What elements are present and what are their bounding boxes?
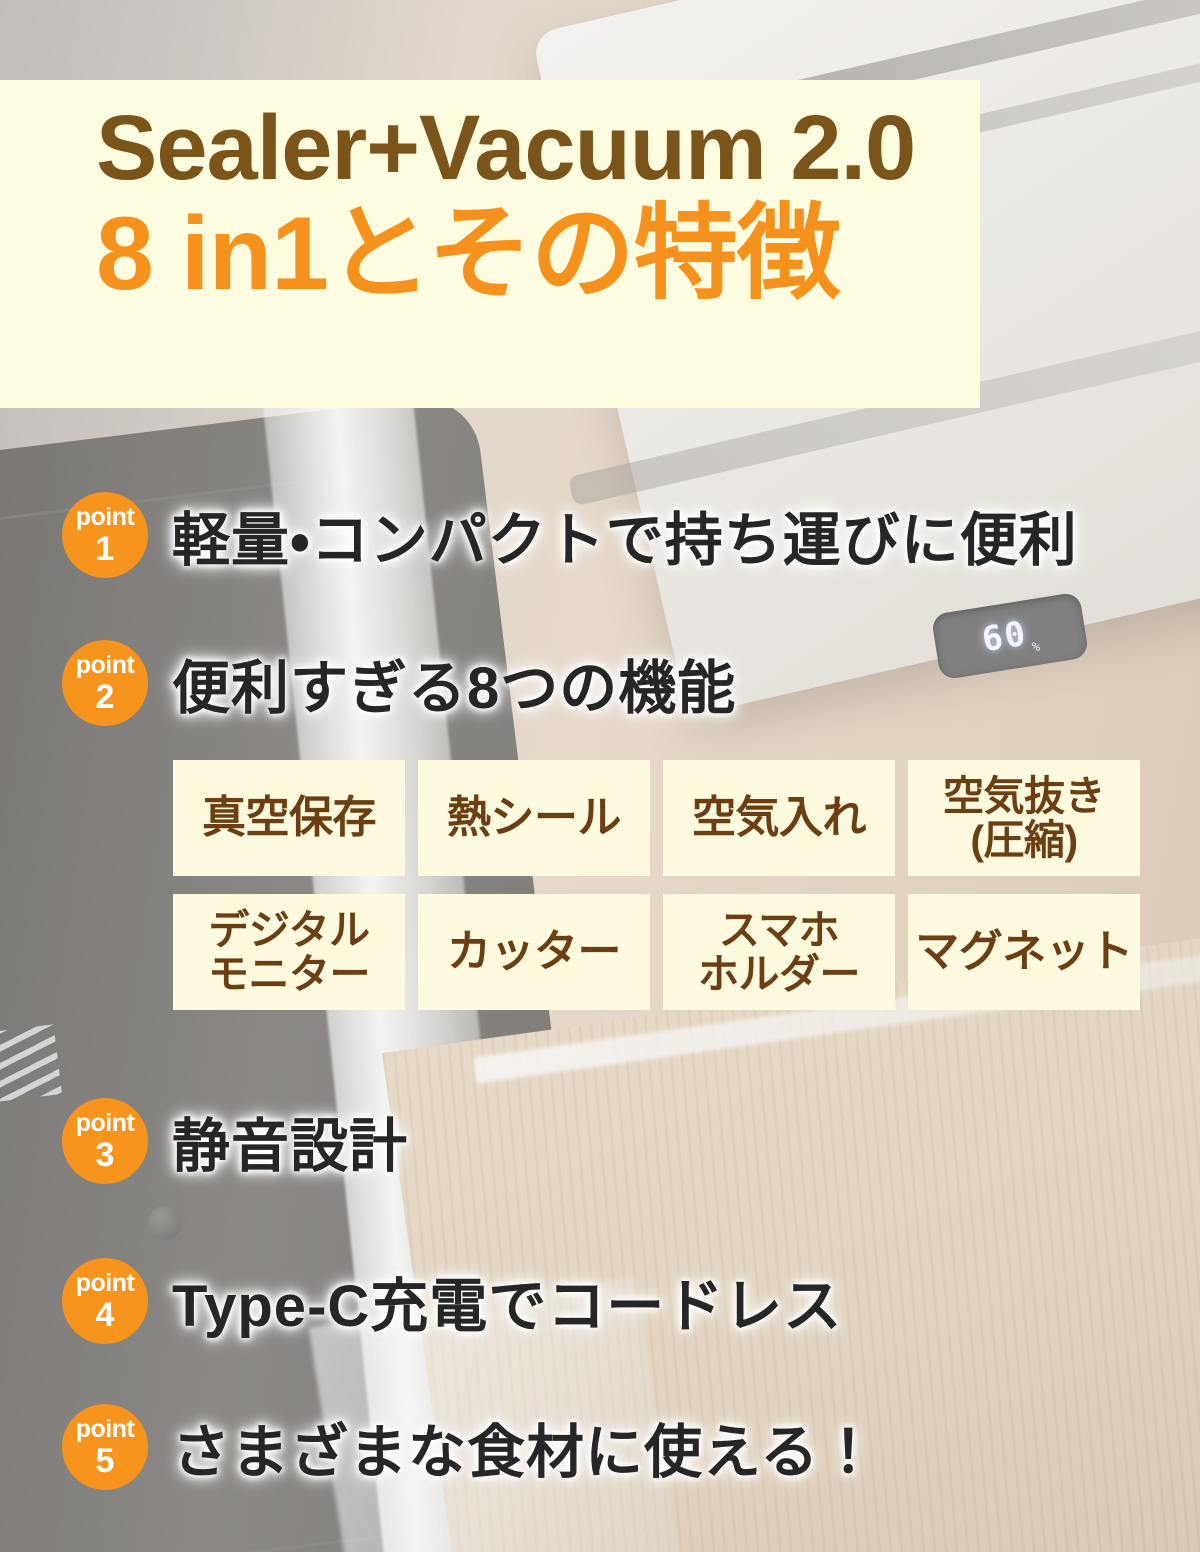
feature-tag-digital-monitor: デジタルモニター (173, 894, 405, 1010)
point-badge-number: 1 (96, 532, 115, 566)
point-row-3: point 3 静音設計 (62, 1098, 408, 1184)
point-row-4: point 4 Type-C充電でコードレス (62, 1258, 842, 1344)
point-badge-label: point (76, 1271, 135, 1296)
point-badge-3: point 3 (62, 1098, 148, 1184)
point-text-5: さまざまな食材に使える！ (172, 1405, 878, 1489)
feature-tag-magnet: マグネット (908, 894, 1140, 1010)
point-row-5: point 5 さまざまな食材に使える！ (62, 1404, 878, 1490)
feature-tag-heat-seal: 熱シール (418, 760, 650, 876)
feature-tag-phone-holder: スマホホルダー (663, 894, 895, 1010)
point-badge-number: 4 (96, 1298, 115, 1332)
title-product-name: Sealer+Vacuum 2.0 (96, 102, 980, 196)
title-card: Sealer+Vacuum 2.0 8 in1とその特徴 (0, 80, 980, 408)
point-text-4: Type-C充電でコードレス (172, 1259, 842, 1343)
point-row-2: point 2 便利すぎる8つの機能 (62, 640, 736, 726)
point-badge-label: point (76, 1111, 135, 1136)
feature-tag-air-release: 空気抜き(圧縮) (908, 760, 1140, 876)
point-badge-label: point (76, 505, 135, 530)
point-badge-2: point 2 (62, 640, 148, 726)
feature-tag-grid: 真空保存 熱シール 空気入れ 空気抜き(圧縮) デジタルモニター カッター スマ… (173, 760, 1141, 1010)
point-text-3: 静音設計 (172, 1099, 408, 1183)
point-badge-5: point 5 (62, 1404, 148, 1490)
point-text-1: 軽量・コンパクトで持ち運びに便利 (172, 493, 1078, 577)
feature-tag-vacuum-storage: 真空保存 (173, 760, 405, 876)
feature-tag-air-pump: 空気入れ (663, 760, 895, 876)
point-badge-number: 5 (96, 1444, 115, 1478)
point-badge-1: point 1 (62, 492, 148, 578)
point-badge-4: point 4 (62, 1258, 148, 1344)
point-badge-number: 3 (96, 1138, 115, 1172)
title-subheading: 8 in1とその特徴 (96, 198, 980, 310)
feature-tag-cutter: カッター (418, 894, 650, 1010)
point-badge-label: point (76, 653, 135, 678)
point-badge-label: point (76, 1417, 135, 1442)
point-row-1: point 1 軽量・コンパクトで持ち運びに便利 (62, 492, 1078, 578)
point-badge-number: 2 (96, 680, 115, 714)
point-text-2: 便利すぎる8つの機能 (172, 641, 736, 725)
product-feature-poster: 60 % Sealer+Vacuum 2.0 8 in1とその特徴 point … (0, 0, 1200, 1552)
